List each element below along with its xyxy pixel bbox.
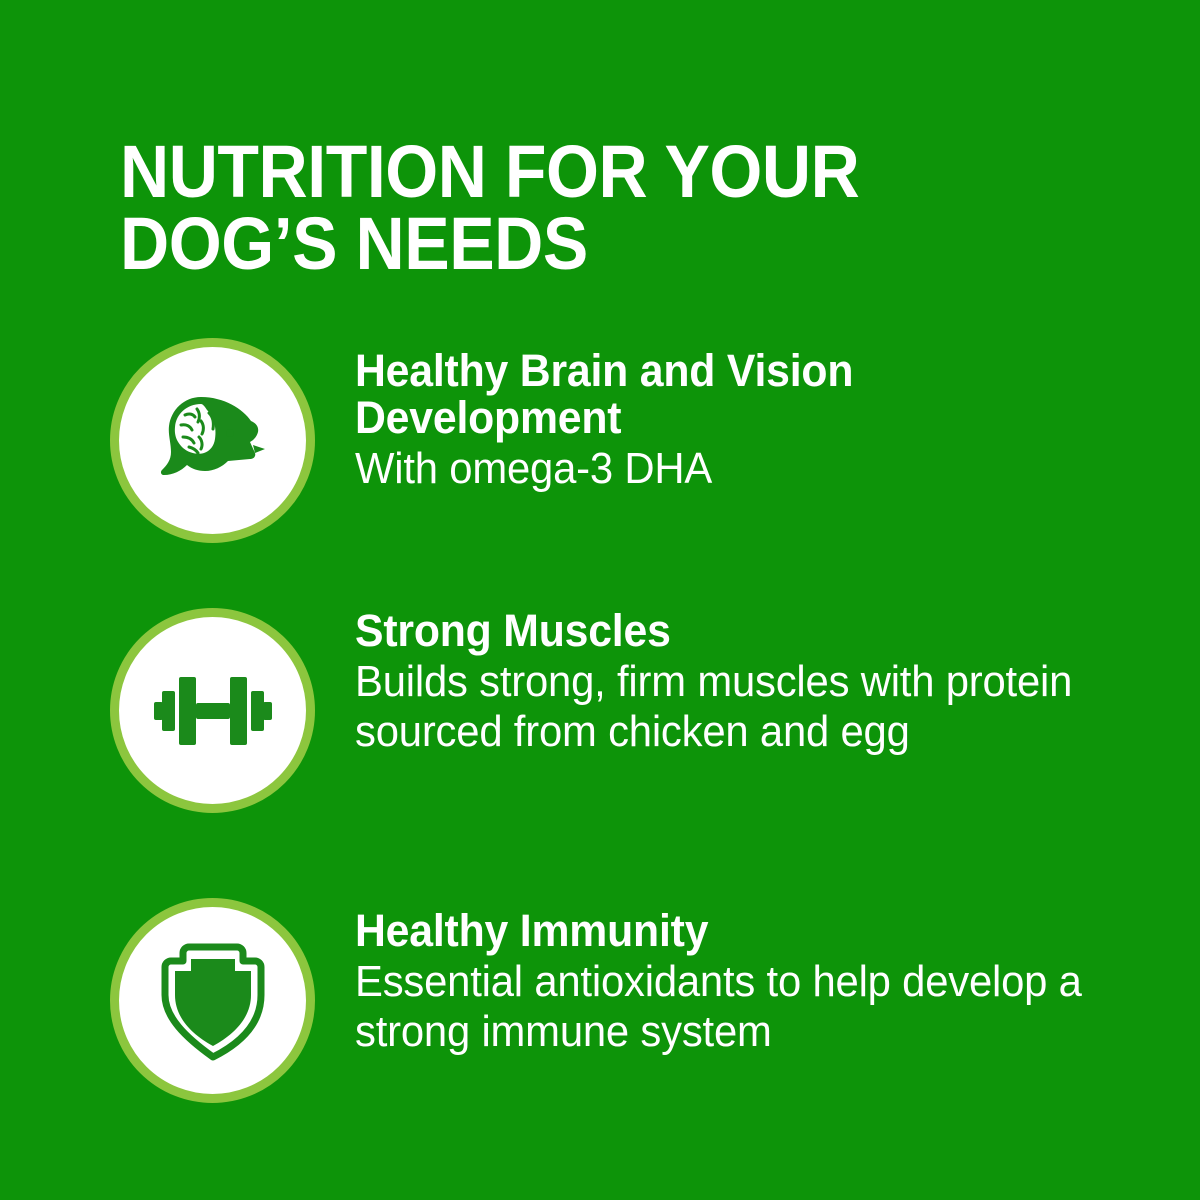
benefit-text-block: Healthy Brain and Vision Development Wit… [315, 330, 1200, 493]
benefit-text-block: Strong Muscles Builds strong, firm muscl… [315, 600, 1200, 756]
benefit-item-brain-vision: Healthy Brain and Vision Development Wit… [0, 330, 1200, 600]
benefit-icon-badge [110, 608, 315, 813]
benefit-title: Strong Muscles [355, 608, 1158, 655]
benefit-item-healthy-immunity: Healthy Immunity Essential antioxidants … [0, 890, 1200, 1130]
dumbbell-icon [150, 669, 276, 753]
benefit-description: Essential antioxidants to help develop a… [355, 957, 1144, 1056]
dog-head-brain-icon [157, 393, 269, 489]
benefit-text-block: Healthy Immunity Essential antioxidants … [315, 890, 1200, 1056]
benefit-description: With omega-3 DHA [355, 444, 1144, 494]
benefit-title: Healthy Immunity [355, 908, 1158, 955]
benefits-list: Healthy Brain and Vision Development Wit… [0, 330, 1200, 1130]
benefit-icon-badge [110, 898, 315, 1103]
nutrition-benefits-poster: NUTRITION FOR YOUR DOG’S NEEDS [0, 0, 1200, 1200]
benefit-description: Builds strong, firm muscles with protein… [355, 657, 1144, 756]
shield-icon [160, 939, 266, 1063]
benefit-title: Healthy Brain and Vision Development [355, 348, 1158, 442]
benefit-item-strong-muscles: Strong Muscles Builds strong, firm muscl… [0, 600, 1200, 890]
benefit-icon-badge [110, 338, 315, 543]
page-title: NUTRITION FOR YOUR DOG’S NEEDS [120, 136, 1040, 281]
